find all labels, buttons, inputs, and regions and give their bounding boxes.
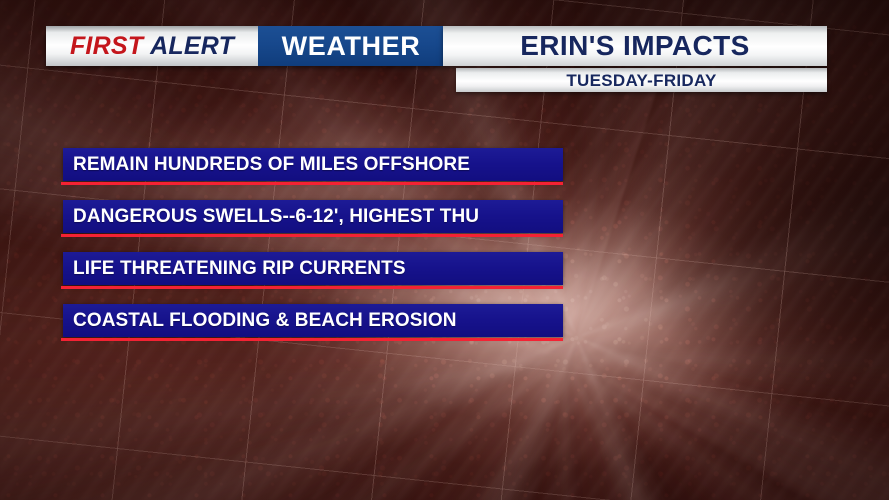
impacts-list: REMAIN HUNDREDS OF MILES OFFSHORE DANGER…: [63, 148, 563, 356]
page-subtitle: TUESDAY-FRIDAY: [566, 72, 716, 89]
list-item: COASTAL FLOODING & BEACH EROSION: [63, 304, 563, 337]
logo-first-text: FIRST: [70, 32, 143, 61]
impact-text: LIFE THREATENING RIP CURRENTS: [63, 258, 406, 280]
impact-text: DANGEROUS SWELLS--6-12', HIGHEST THU: [63, 206, 479, 228]
list-item: REMAIN HUNDREDS OF MILES OFFSHORE: [63, 148, 563, 181]
weather-graphic-screen: FIRST ALERT WEATHER ERIN'S IMPACTS TUESD…: [0, 0, 889, 500]
list-item: DANGEROUS SWELLS--6-12', HIGHEST THU: [63, 200, 563, 233]
first-alert-block: FIRST ALERT: [46, 26, 258, 66]
subtitle-panel: TUESDAY-FRIDAY: [456, 68, 827, 92]
impact-text: REMAIN HUNDREDS OF MILES OFFSHORE: [63, 154, 470, 176]
list-item: LIFE THREATENING RIP CURRENTS: [63, 252, 563, 285]
first-alert-weather-logo: FIRST ALERT WEATHER: [46, 26, 444, 66]
page-title: ERIN'S IMPACTS: [520, 32, 750, 60]
logo-alert-text: ALERT: [150, 32, 234, 61]
logo-weather-text: WEATHER: [282, 31, 421, 62]
headline-panel: ERIN'S IMPACTS: [443, 26, 827, 66]
logo-weather-block: WEATHER: [258, 26, 444, 66]
impact-text: COASTAL FLOODING & BEACH EROSION: [63, 310, 457, 332]
